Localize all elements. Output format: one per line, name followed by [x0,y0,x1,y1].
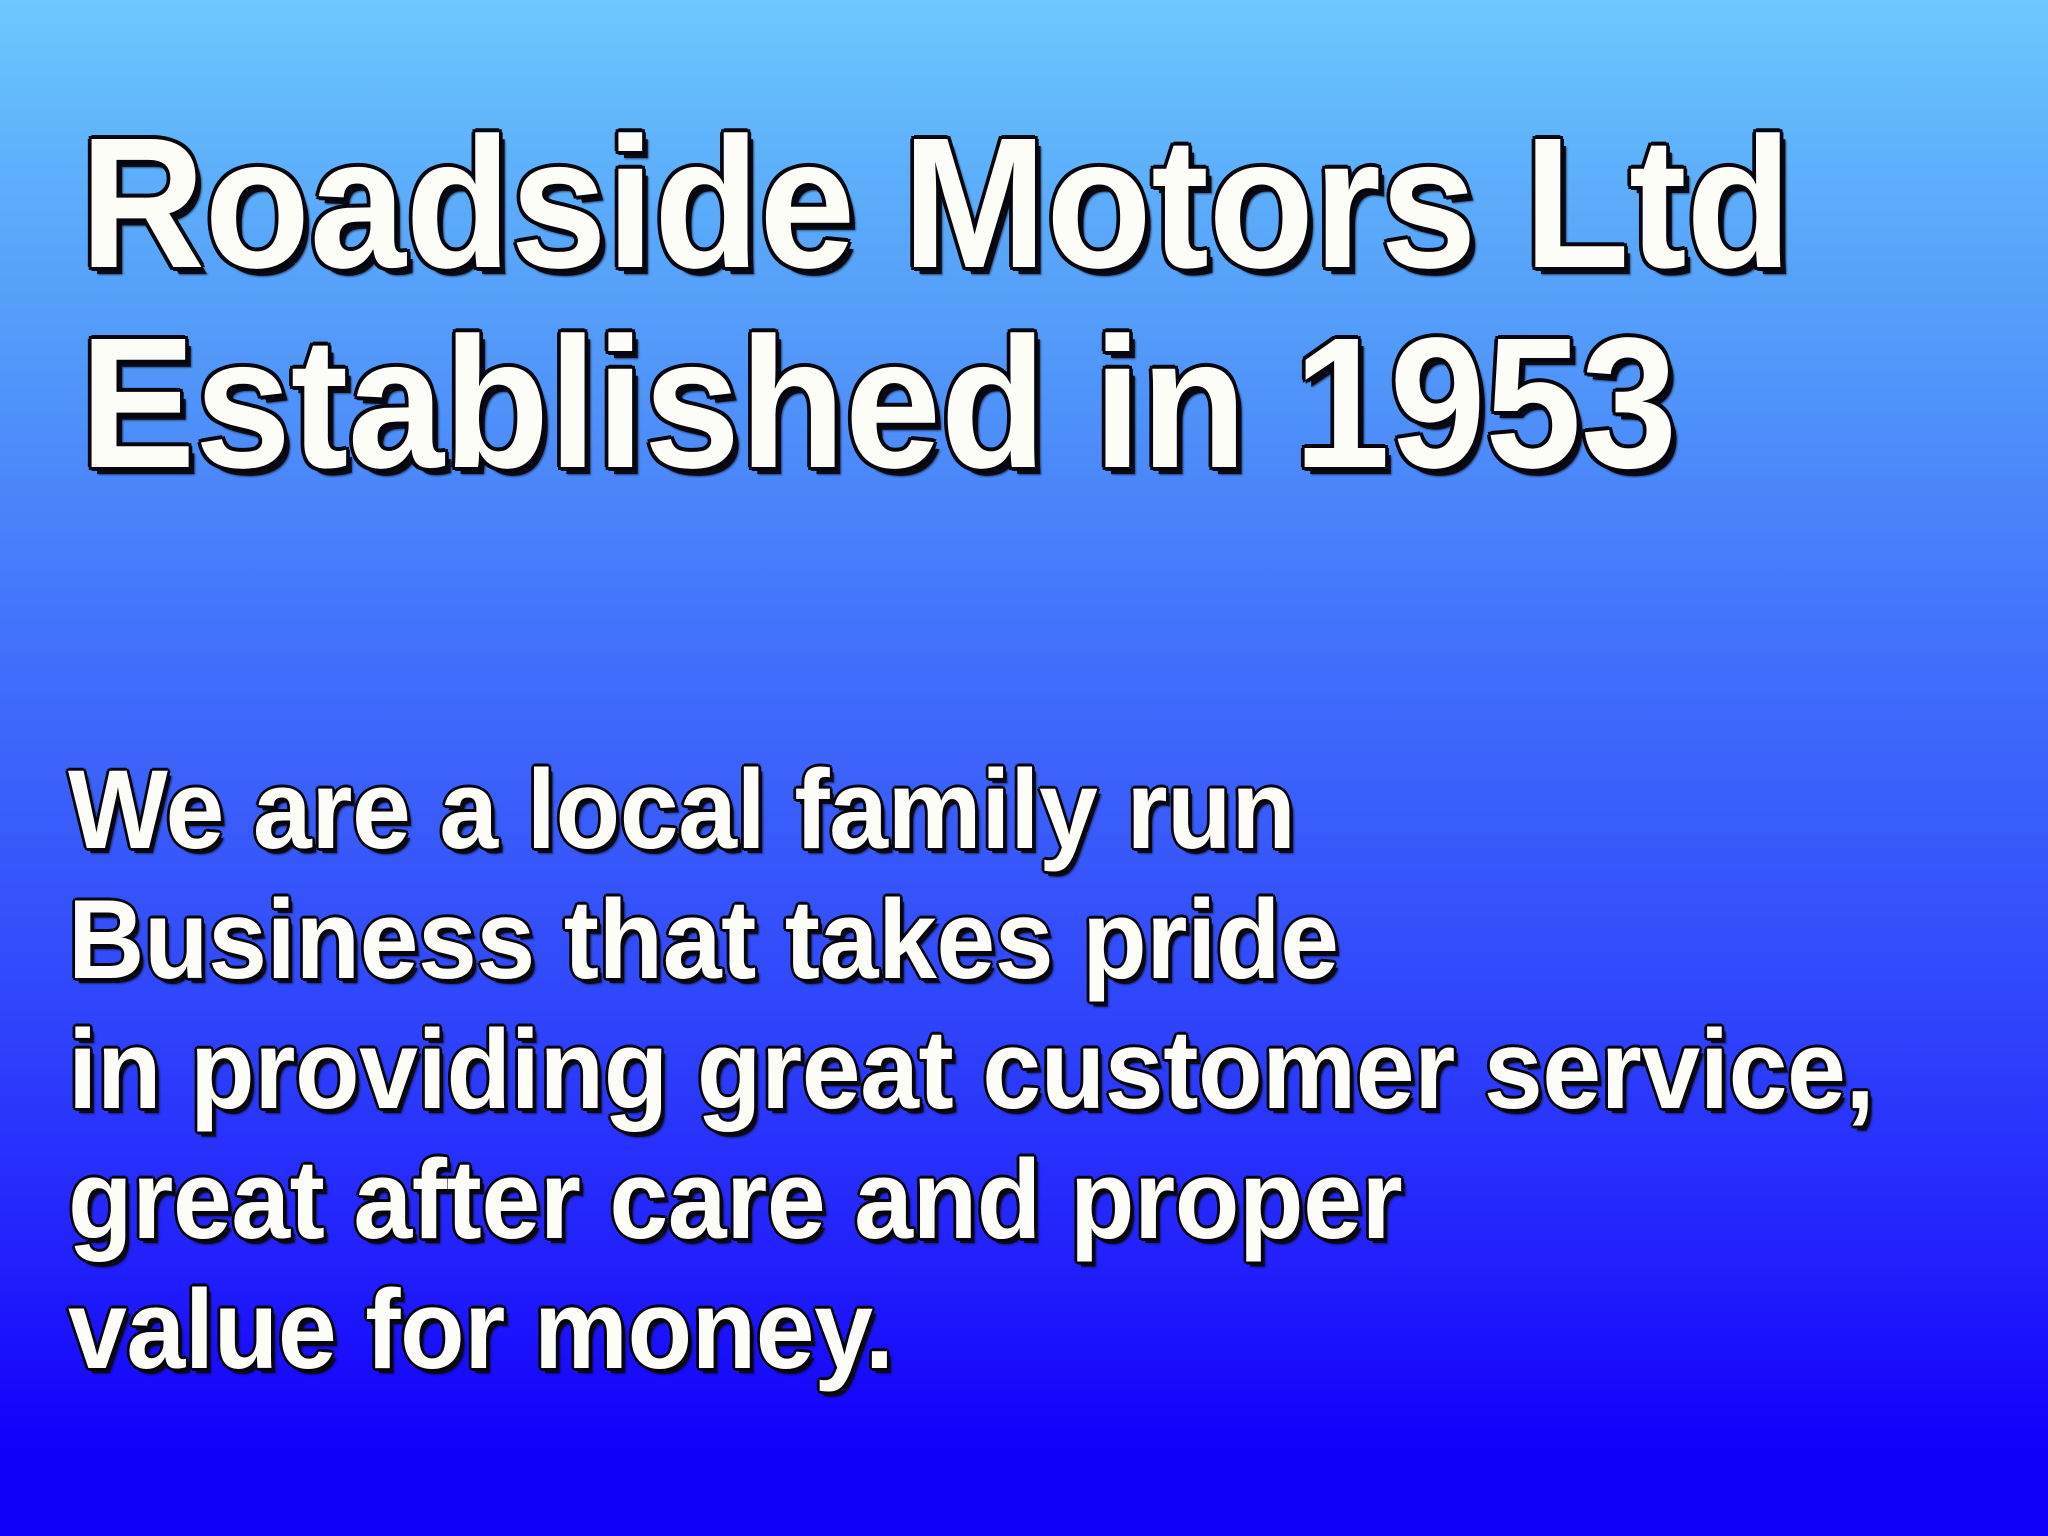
title-line-business-name: Roadside Motors Ltd [80,104,1791,304]
body-line-3: in providing great customer service, [68,1005,1874,1135]
body-line-2: Business that takes pride [68,875,1874,1005]
title-block: Roadside Motors Ltd Established in 1953 [80,104,1920,504]
promotional-slide: Roadside Motors Ltd Established in 1953 … [0,0,2048,1536]
body-line-5: value for money. [68,1265,1874,1395]
body-line-4: great after care and proper [68,1135,1874,1265]
body-line-1: We are a local family run [68,745,1874,875]
title-line-established: Established in 1953 [80,304,1791,504]
body-block: We are a local family run Business that … [68,745,1979,1395]
